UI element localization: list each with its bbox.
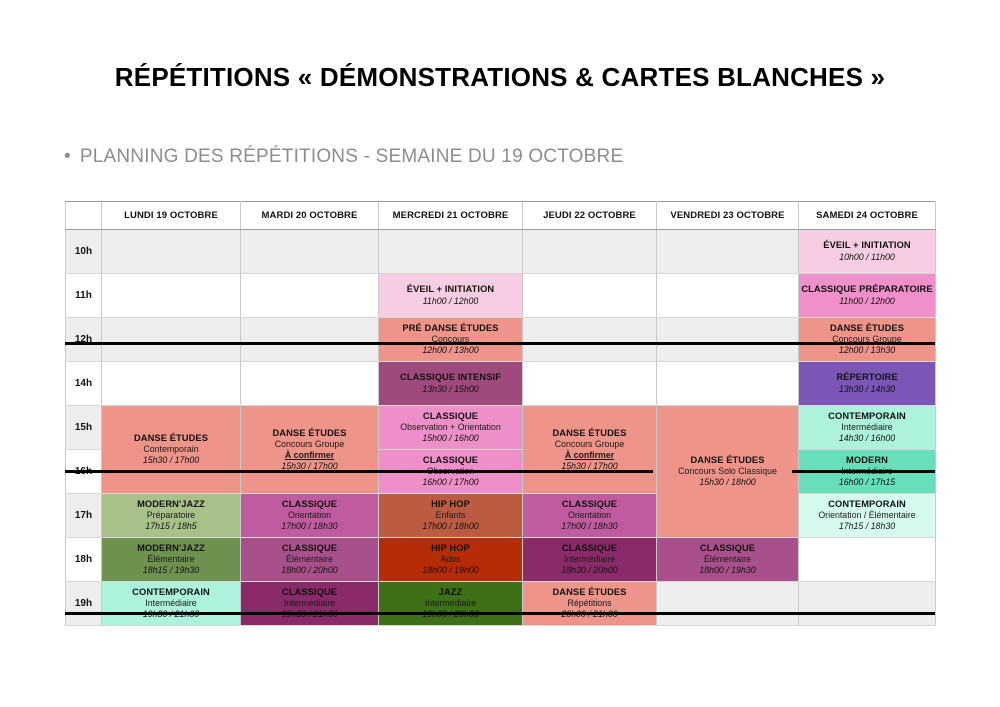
event-title: MODERN'JAZZ xyxy=(104,543,238,554)
event-title: JAZZ xyxy=(381,587,520,598)
slot-jeudi-18h[interactable]: CLASSIQUE Intermédiaire 18h30 / 20h00 xyxy=(523,538,657,582)
table-header-row: LUNDI 19 OCTOBRE MARDI 20 OCTOBRE MERCRE… xyxy=(66,202,936,230)
event-sam-10h: ÉVEIL + INITIATION 10h00 / 11h00 xyxy=(799,239,935,263)
time-label-19h: 19h xyxy=(66,582,102,626)
event-title: CONTEMPORAIN xyxy=(801,411,933,422)
event-title: CONTEMPORAIN xyxy=(104,587,238,598)
event-title: CLASSIQUE PRÉPARATOIRE xyxy=(801,284,933,295)
event-time: 16h00 / 17h00 xyxy=(381,477,520,488)
slot-samedi-11h[interactable]: CLASSIQUE PRÉPARATOIRE 11h00 / 12h00 xyxy=(799,274,936,318)
event-title: CLASSIQUE xyxy=(243,587,376,598)
page-subtitle: •PLANNING DES RÉPÉTITIONS - SEMAINE DU 1… xyxy=(64,146,623,168)
event-title: CLASSIQUE xyxy=(381,411,520,422)
event-title: ÉVEIL + INITIATION xyxy=(801,240,933,251)
event-lun-15h: DANSE ÉTUDES Contemporain 15h30 / 17h00 xyxy=(102,432,240,467)
table-row-14h: 14h CLASSIQUE INTENSIF 13h30 / 15h00 RÉP… xyxy=(66,362,936,406)
corner-cell xyxy=(66,202,102,230)
event-mer-12h: PRÉ DANSE ÉTUDES Concours 12h00 / 13h00 xyxy=(379,322,522,357)
event-time: 13h30 / 14h30 xyxy=(801,384,933,395)
slot-mardi-18h[interactable]: CLASSIQUE Élémentaire 18h00 / 20h00 xyxy=(241,538,379,582)
event-sam-11h: CLASSIQUE PRÉPARATOIRE 11h00 / 12h00 xyxy=(799,283,935,307)
slot-samedi-18h[interactable] xyxy=(799,538,936,582)
slot-samedi-15h[interactable]: CONTEMPORAIN Intermédiaire 14h30 / 16h00 xyxy=(799,406,936,450)
slot-mardi-14h[interactable] xyxy=(241,362,379,406)
slot-mercredi-19h[interactable]: JAZZ Intermédiaire 19h00 / 20h00 xyxy=(379,582,523,626)
slot-lundi-15h[interactable]: DANSE ÉTUDES Contemporain 15h30 / 17h00 xyxy=(102,406,241,494)
table-row-19h: 19h CONTEMPORAIN Intermédiaire 19h30 / 2… xyxy=(66,582,936,626)
slot-vendredi-11h[interactable] xyxy=(657,274,799,318)
event-sub: Orientation xyxy=(243,510,376,521)
event-mar-17h: CLASSIQUE Orientation 17h00 / 18h30 xyxy=(241,498,378,533)
event-title: DANSE ÉTUDES xyxy=(525,428,654,439)
event-title: ÉVEIL + INITIATION xyxy=(381,284,520,295)
divider-lunch xyxy=(65,342,935,345)
event-title: HIP HOP xyxy=(381,499,520,510)
slot-jeudi-11h[interactable] xyxy=(523,274,657,318)
event-sub: Ados xyxy=(381,554,520,565)
table-row-15h: 15h DANSE ÉTUDES Contemporain 15h30 / 17… xyxy=(66,406,936,450)
event-mer-19h: JAZZ Intermédiaire 19h00 / 20h00 xyxy=(379,586,522,621)
table-row-10h: 10h ÉVEIL + INITIATION 10h00 / 11h00 xyxy=(66,230,936,274)
event-confirm-note: À confirmer xyxy=(243,450,376,461)
event-sub: Concours Groupe xyxy=(243,439,376,450)
time-label-14h: 14h xyxy=(66,362,102,406)
event-sam-14h: RÉPERTOIRE 13h30 / 14h30 xyxy=(799,371,935,395)
day-header-samedi: SAMEDI 24 OCTOBRE xyxy=(799,202,936,230)
event-title: CLASSIQUE INTENSIF xyxy=(381,372,520,383)
event-time: 18h30 / 20h00 xyxy=(525,565,654,576)
event-time: 12h00 / 13h00 xyxy=(381,345,520,356)
event-lun-18h: MODERN'JAZZ Élémentaire 18h15 / 19h30 xyxy=(102,542,240,577)
slot-samedi-14h[interactable]: RÉPERTOIRE 13h30 / 14h30 xyxy=(799,362,936,406)
event-sub: Concours Solo Classique xyxy=(659,466,796,477)
event-title: RÉPERTOIRE xyxy=(801,372,933,383)
event-confirm-note: À confirmer xyxy=(525,450,654,461)
event-mer-18h: HIP HOP Ados 18h00 / 19h00 xyxy=(379,542,522,577)
event-time: 12h00 / 13h30 xyxy=(801,345,933,356)
event-mer-15h: CLASSIQUE Observation + Orientation 15h0… xyxy=(379,410,522,445)
time-label-11h: 11h xyxy=(66,274,102,318)
event-title: DANSE ÉTUDES xyxy=(659,455,796,466)
event-sub: Répétitions xyxy=(525,598,654,609)
page-title: RÉPÉTITIONS « DÉMONSTRATIONS & CARTES BL… xyxy=(0,62,1000,93)
event-sub: Observation + Orientation xyxy=(381,422,520,433)
slot-lundi-10h[interactable] xyxy=(102,230,241,274)
day-header-mercredi: MERCREDI 21 OCTOBRE xyxy=(379,202,523,230)
event-mer-14h: CLASSIQUE INTENSIF 13h30 / 15h00 xyxy=(379,371,522,395)
slot-mardi-10h[interactable] xyxy=(241,230,379,274)
slot-samedi-12h[interactable]: DANSE ÉTUDES Concours Groupe 12h00 / 13h… xyxy=(799,318,936,362)
event-sub: Concours Groupe xyxy=(525,439,654,450)
event-title: CLASSIQUE xyxy=(659,543,796,554)
slot-jeudi-12h[interactable] xyxy=(523,318,657,362)
day-header-mardi: MARDI 20 OCTOBRE xyxy=(241,202,379,230)
event-jeu-15h: DANSE ÉTUDES Concours Groupe À confirmer… xyxy=(523,427,656,472)
time-label-17h: 17h xyxy=(66,494,102,538)
slot-samedi-19h[interactable] xyxy=(799,582,936,626)
slot-mardi-12h[interactable] xyxy=(241,318,379,362)
event-sub: Orientation xyxy=(525,510,654,521)
event-time: 18h15 / 19h30 xyxy=(104,565,238,576)
event-time: 17h00 / 18h30 xyxy=(525,521,654,532)
slot-jeudi-17h[interactable]: CLASSIQUE Orientation 17h00 / 18h30 xyxy=(523,494,657,538)
table-row-18h: 18h MODERN'JAZZ Élémentaire 18h15 / 19h3… xyxy=(66,538,936,582)
event-title: DANSE ÉTUDES xyxy=(243,428,376,439)
event-sam-15h: CONTEMPORAIN Intermédiaire 14h30 / 16h00 xyxy=(799,410,935,445)
event-jeu-17h: CLASSIQUE Orientation 17h00 / 18h30 xyxy=(523,498,656,533)
event-sam-12h: DANSE ÉTUDES Concours Groupe 12h00 / 13h… xyxy=(799,322,935,357)
slot-mardi-11h[interactable] xyxy=(241,274,379,318)
event-jeu-19h: DANSE ÉTUDES Répétitions 20h00 / 21h00 xyxy=(523,586,656,621)
event-title: MODERN xyxy=(801,455,933,466)
event-mar-18h: CLASSIQUE Élémentaire 18h00 / 20h00 xyxy=(241,542,378,577)
event-sub: Contemporain xyxy=(104,444,238,455)
event-time: 18h00 / 19h00 xyxy=(381,565,520,576)
slot-mercredi-17h[interactable]: HIP HOP Enfants 17h00 / 18h00 xyxy=(379,494,523,538)
slot-mardi-15h[interactable]: DANSE ÉTUDES Concours Groupe À confirmer… xyxy=(241,406,379,494)
event-title: DANSE ÉTUDES xyxy=(801,323,933,334)
subtitle-text: PLANNING DES RÉPÉTITIONS - SEMAINE DU 19… xyxy=(80,146,623,167)
event-ven-18h: CLASSIQUE Élémentaire 18h00 / 19h30 xyxy=(657,542,798,577)
divider-evening-right xyxy=(792,470,935,473)
time-label-10h: 10h xyxy=(66,230,102,274)
table-row-11h: 11h ÉVEIL + INITIATION 11h00 / 12h00 CLA… xyxy=(66,274,936,318)
event-sub: Intermédiaire xyxy=(104,598,238,609)
event-sub: Élémentaire xyxy=(243,554,376,565)
event-sub: Intermédiaire xyxy=(801,422,933,433)
slot-lundi-11h[interactable] xyxy=(102,274,241,318)
event-sub: Élémentaire xyxy=(659,554,796,565)
slot-jeudi-10h[interactable] xyxy=(523,230,657,274)
slot-jeudi-19h[interactable]: DANSE ÉTUDES Répétitions 20h00 / 21h00 xyxy=(523,582,657,626)
slot-vendredi-10h[interactable] xyxy=(657,230,799,274)
event-mer-11h: ÉVEIL + INITIATION 11h00 / 12h00 xyxy=(379,283,522,307)
event-time: 11h00 / 12h00 xyxy=(801,296,933,307)
slot-vendredi-15h[interactable]: DANSE ÉTUDES Concours Solo Classique 15h… xyxy=(657,406,799,538)
slot-jeudi-14h[interactable] xyxy=(523,362,657,406)
slot-vendredi-19h[interactable] xyxy=(657,582,799,626)
event-title: CONTEMPORAIN xyxy=(801,499,933,510)
event-mar-15h: DANSE ÉTUDES Concours Groupe À confirmer… xyxy=(241,427,378,472)
event-sub: Préparatoire xyxy=(104,510,238,521)
event-title: CLASSIQUE xyxy=(243,543,376,554)
event-ven-15h: DANSE ÉTUDES Concours Solo Classique 15h… xyxy=(657,454,798,489)
event-title: CLASSIQUE xyxy=(243,499,376,510)
event-sub: Intermédiaire xyxy=(381,598,520,609)
event-mar-19h: CLASSIQUE Intermédiaire 19h30 / 21h00 xyxy=(241,586,378,621)
event-time: 15h30 / 18h00 xyxy=(659,477,796,488)
slot-mercredi-12h[interactable]: PRÉ DANSE ÉTUDES Concours 12h00 / 13h00 xyxy=(379,318,523,362)
event-time: 17h15 / 18h5 xyxy=(104,521,238,532)
schedule-table: LUNDI 19 OCTOBRE MARDI 20 OCTOBRE MERCRE… xyxy=(65,201,936,626)
slot-vendredi-12h[interactable] xyxy=(657,318,799,362)
event-time: 10h00 / 11h00 xyxy=(801,252,933,263)
event-title: MODERN'JAZZ xyxy=(104,499,238,510)
event-title: PRÉ DANSE ÉTUDES xyxy=(381,323,520,334)
event-sub: Intermédiaire xyxy=(243,598,376,609)
event-time: 15h30 / 17h00 xyxy=(104,455,238,466)
event-sub: Orientation / Élémentaire xyxy=(801,510,933,521)
slot-vendredi-18h[interactable]: CLASSIQUE Élémentaire 18h00 / 19h30 xyxy=(657,538,799,582)
event-title: CLASSIQUE xyxy=(525,499,654,510)
day-header-vendredi: VENDREDI 23 OCTOBRE xyxy=(657,202,799,230)
bullet-icon: • xyxy=(64,147,71,166)
slot-mercredi-18h[interactable]: HIP HOP Ados 18h00 / 19h00 xyxy=(379,538,523,582)
divider-evening-left xyxy=(65,470,653,473)
event-time: 17h15 / 18h30 xyxy=(801,521,933,532)
slot-samedi-17h[interactable]: CONTEMPORAIN Orientation / Élémentaire 1… xyxy=(799,494,936,538)
event-title: DANSE ÉTUDES xyxy=(104,433,238,444)
slot-lundi-17h[interactable]: MODERN'JAZZ Préparatoire 17h15 / 18h5 xyxy=(102,494,241,538)
event-time: 17h00 / 18h30 xyxy=(243,521,376,532)
slot-mercredi-15h[interactable]: CLASSIQUE Observation + Orientation 15h0… xyxy=(379,406,523,450)
time-label-18h: 18h xyxy=(66,538,102,582)
slot-jeudi-15h[interactable]: DANSE ÉTUDES Concours Groupe À confirmer… xyxy=(523,406,657,494)
event-time: 17h00 / 18h00 xyxy=(381,521,520,532)
day-header-jeudi: JEUDI 22 OCTOBRE xyxy=(523,202,657,230)
event-sub: Élémentaire xyxy=(104,554,238,565)
event-time: 18h00 / 20h00 xyxy=(243,565,376,576)
event-time: 14h30 / 16h00 xyxy=(801,433,933,444)
time-label-15h: 15h xyxy=(66,406,102,450)
day-header-lundi: LUNDI 19 OCTOBRE xyxy=(102,202,241,230)
event-time: 18h00 / 19h30 xyxy=(659,565,796,576)
table-row-12h: 12h PRÉ DANSE ÉTUDES Concours 12h00 / 13… xyxy=(66,318,936,362)
slot-mardi-19h[interactable]: CLASSIQUE Intermédiaire 19h30 / 21h00 xyxy=(241,582,379,626)
event-time: 13h30 / 15h00 xyxy=(381,384,520,395)
slot-lundi-14h[interactable] xyxy=(102,362,241,406)
schedule-page: RÉPÉTITIONS « DÉMONSTRATIONS & CARTES BL… xyxy=(0,0,1000,707)
event-lun-19h: CONTEMPORAIN Intermédiaire 19h30 / 21h00 xyxy=(102,586,240,621)
slot-mercredi-11h[interactable]: ÉVEIL + INITIATION 11h00 / 12h00 xyxy=(379,274,523,318)
event-sub: Intermédiaire xyxy=(525,554,654,565)
slot-mardi-17h[interactable]: CLASSIQUE Orientation 17h00 / 18h30 xyxy=(241,494,379,538)
event-mer-17h: HIP HOP Enfants 17h00 / 18h00 xyxy=(379,498,522,533)
event-title: CLASSIQUE xyxy=(381,455,520,466)
slot-samedi-10h[interactable]: ÉVEIL + INITIATION 10h00 / 11h00 xyxy=(799,230,936,274)
event-lun-17h: MODERN'JAZZ Préparatoire 17h15 / 18h5 xyxy=(102,498,240,533)
time-label-12h: 12h xyxy=(66,318,102,362)
slot-vendredi-14h[interactable] xyxy=(657,362,799,406)
divider-bottom xyxy=(65,612,935,615)
slot-lundi-12h[interactable] xyxy=(102,318,241,362)
event-sub: Enfants xyxy=(381,510,520,521)
event-title: DANSE ÉTUDES xyxy=(525,587,654,598)
slot-lundi-18h[interactable]: MODERN'JAZZ Élémentaire 18h15 / 19h30 xyxy=(102,538,241,582)
slot-mercredi-10h[interactable] xyxy=(379,230,523,274)
event-time: 11h00 / 12h00 xyxy=(381,296,520,307)
slot-mercredi-14h[interactable]: CLASSIQUE INTENSIF 13h30 / 15h00 xyxy=(379,362,523,406)
event-time: 15h00 / 16h00 xyxy=(381,433,520,444)
table-row-17h: 17h MODERN'JAZZ Préparatoire 17h15 / 18h… xyxy=(66,494,936,538)
slot-lundi-19h[interactable]: CONTEMPORAIN Intermédiaire 19h30 / 21h00 xyxy=(102,582,241,626)
event-title: CLASSIQUE xyxy=(525,543,654,554)
event-title: HIP HOP xyxy=(381,543,520,554)
event-jeu-18h: CLASSIQUE Intermédiaire 18h30 / 20h00 xyxy=(523,542,656,577)
event-sam-17h: CONTEMPORAIN Orientation / Élémentaire 1… xyxy=(799,498,935,533)
event-time: 16h00 / 17h15 xyxy=(801,477,933,488)
schedule-table-wrap: LUNDI 19 OCTOBRE MARDI 20 OCTOBRE MERCRE… xyxy=(65,201,935,626)
